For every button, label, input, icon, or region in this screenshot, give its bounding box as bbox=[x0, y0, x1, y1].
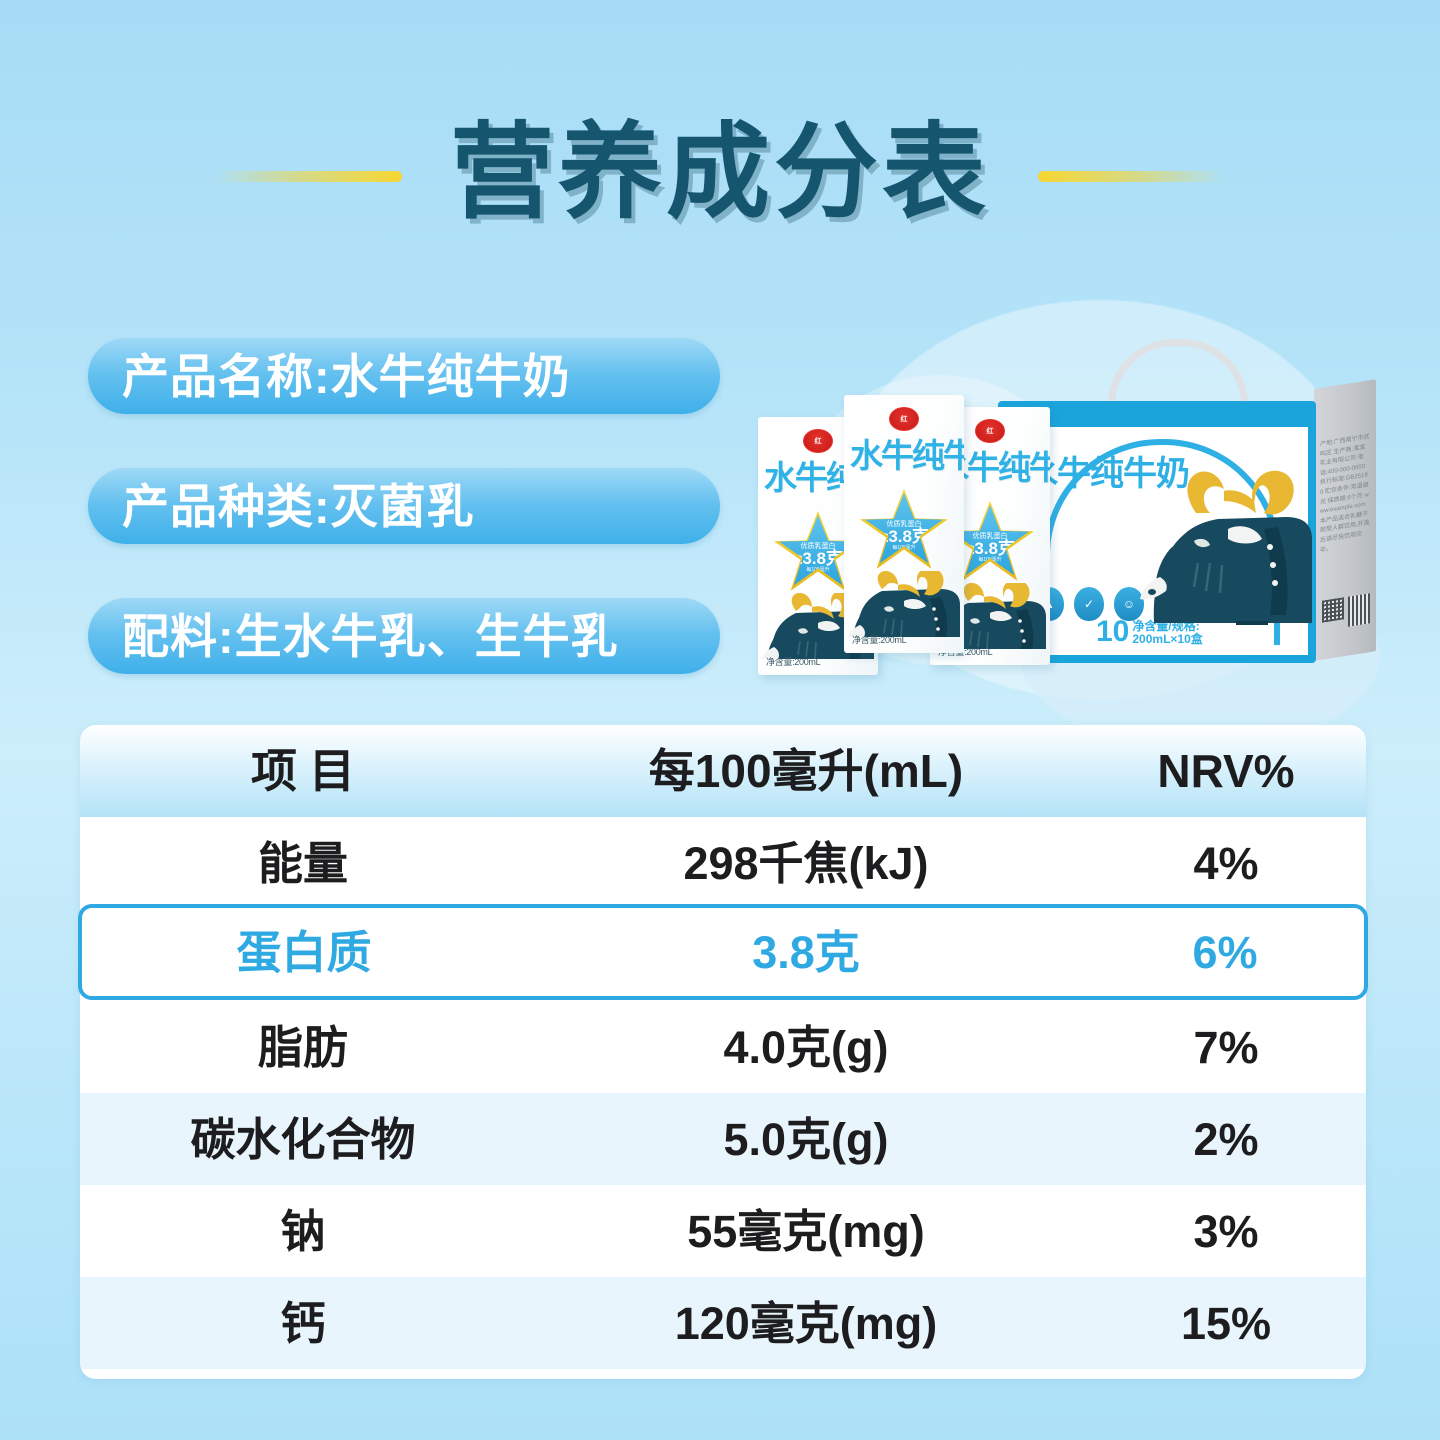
nutrition-table: 项目 每100毫升(mL) NRV% 能量 298千焦(kJ) 4% 脂肪 4.… bbox=[80, 725, 1366, 1379]
title-rule-left-icon bbox=[214, 171, 402, 182]
info-pill-label: 产品种类:灭菌乳 bbox=[122, 483, 475, 530]
table-header-row: 项目 每100毫升(mL) NRV% bbox=[80, 725, 1366, 817]
row-item-value: 298千焦(kJ) bbox=[526, 841, 1086, 886]
brand-logo-icon: 红 bbox=[975, 419, 1005, 443]
row-item-nrv: 15% bbox=[1086, 1301, 1366, 1346]
carton-net-quantity: 净含量:200mL bbox=[852, 633, 906, 646]
table-row: 钙 120毫克(mg) 15% bbox=[80, 1277, 1366, 1369]
barcode-icon bbox=[1348, 593, 1370, 626]
milk-carton: 红 水牛纯牛奶 优质乳蛋白 ≥3.8克 每100毫升 净含量:200mL bbox=[844, 395, 964, 653]
row-item-value: 120毫克(mg) bbox=[526, 1301, 1086, 1346]
row-item-value: 4.0克(g) bbox=[526, 1025, 1086, 1070]
table-row-protein-highlight: 蛋白质 3.8克 6% bbox=[78, 904, 1368, 1000]
gift-box-pack-count: 10 bbox=[1096, 617, 1129, 647]
carton-net-quantity: 净含量:200mL bbox=[766, 655, 820, 668]
row-item-name: 能量 bbox=[80, 841, 526, 886]
table-row: 钠 55毫克(mg) 3% bbox=[80, 1185, 1366, 1277]
row-item-nrv: 3% bbox=[1086, 1209, 1366, 1254]
gift-box-side-text: 产地:广西南宁市武鸣区 生产商:某某乳业有限公司 电话:400-000-0000… bbox=[1320, 433, 1370, 591]
row-item-value: 3.8克 bbox=[526, 930, 1086, 975]
column-header-nrv: NRV% bbox=[1086, 748, 1366, 794]
table-row: 脂肪 4.0克(g) 7% bbox=[80, 1001, 1366, 1093]
page-title: 营养成分表 bbox=[450, 121, 990, 225]
info-pill-ingredients: 配料:生水牛乳、生牛乳 bbox=[88, 598, 720, 674]
row-item-name: 钠 bbox=[80, 1209, 526, 1254]
gift-box: 水牛纯牛奶 ▲ ✓ ☺ 10 净含量/规格:200mL×10盒 bbox=[998, 385, 1376, 663]
row-item-name: 碳水化合物 bbox=[80, 1117, 526, 1162]
product-image: 水牛纯牛奶 ▲ ✓ ☺ 10 净含量/规格:200mL×10盒 bbox=[740, 355, 1380, 700]
brand-logo-icon: 红 bbox=[889, 407, 919, 431]
page-title-bar: 营养成分表 bbox=[0, 108, 1440, 238]
buffalo-head-icon bbox=[1136, 455, 1312, 627]
row-item-nrv: 7% bbox=[1086, 1025, 1366, 1070]
info-pill-label: 配料:生水牛乳、生牛乳 bbox=[122, 613, 619, 660]
buffalo-head-icon bbox=[848, 571, 964, 637]
row-item-nrv: 2% bbox=[1086, 1117, 1366, 1162]
carton-product-name: 水牛纯牛奶 bbox=[850, 439, 964, 472]
row-item-name: 钙 bbox=[80, 1301, 526, 1346]
table-bottom-spacer bbox=[80, 1369, 1366, 1379]
row-item-value: 5.0克(g) bbox=[526, 1117, 1086, 1162]
row-item-name: 脂肪 bbox=[80, 1025, 526, 1070]
table-row: 碳水化合物 5.0克(g) 2% bbox=[80, 1093, 1366, 1185]
row-item-nrv: 6% bbox=[1086, 930, 1364, 975]
table-row: 能量 298千焦(kJ) 4% bbox=[80, 817, 1366, 909]
info-pill-product-name: 产品名称:水牛纯牛奶 bbox=[88, 338, 720, 414]
row-item-nrv: 4% bbox=[1086, 841, 1366, 886]
brand-logo-icon: 红 bbox=[803, 429, 833, 453]
qr-code-icon bbox=[1322, 597, 1344, 622]
info-pill-label: 产品名称:水牛纯牛奶 bbox=[122, 353, 571, 400]
row-item-name: 蛋白质 bbox=[82, 930, 526, 975]
info-pill-product-category: 产品种类:灭菌乳 bbox=[88, 468, 720, 544]
column-header-value: 每100毫升(mL) bbox=[526, 748, 1086, 794]
column-header-item: 项目 bbox=[80, 748, 526, 794]
row-item-value: 55毫克(mg) bbox=[526, 1209, 1086, 1254]
title-rule-right-icon bbox=[1038, 171, 1226, 182]
